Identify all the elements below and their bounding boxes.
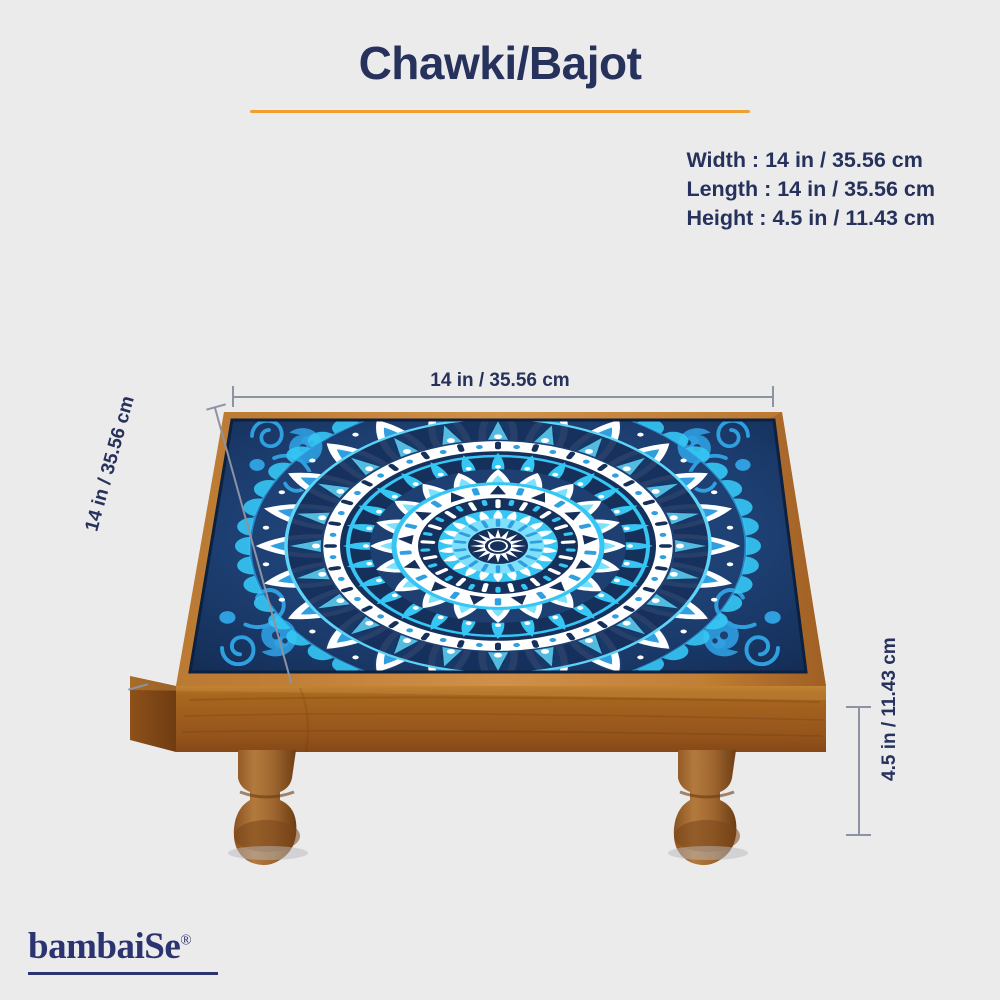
brand-logo-underline [28,972,218,975]
length-dimension-cap-bottom [128,683,148,690]
height-dimension-label: 4.5 in / 11.43 cm [879,637,901,781]
height-dimension-line [858,706,860,836]
registered-trademark-icon: ® [180,933,191,949]
width-dimension-line [232,396,774,398]
brand-name: bambaiSe [28,926,180,967]
mandala-motif [235,388,761,704]
infographic-canvas: Chawki/Bajot Width : 14 in / 35.56 cm Le… [0,0,1000,1000]
leg-shadow-left [228,846,308,860]
height-dimension-cap-top [846,706,871,708]
width-dimension-label: 14 in / 35.56 cm [0,370,1000,392]
leg-shadow-right [668,846,748,860]
height-dimension-cap-bottom [846,834,871,836]
brand-logo: bambaiSe® [28,928,191,965]
length-dimension-group [110,400,230,700]
